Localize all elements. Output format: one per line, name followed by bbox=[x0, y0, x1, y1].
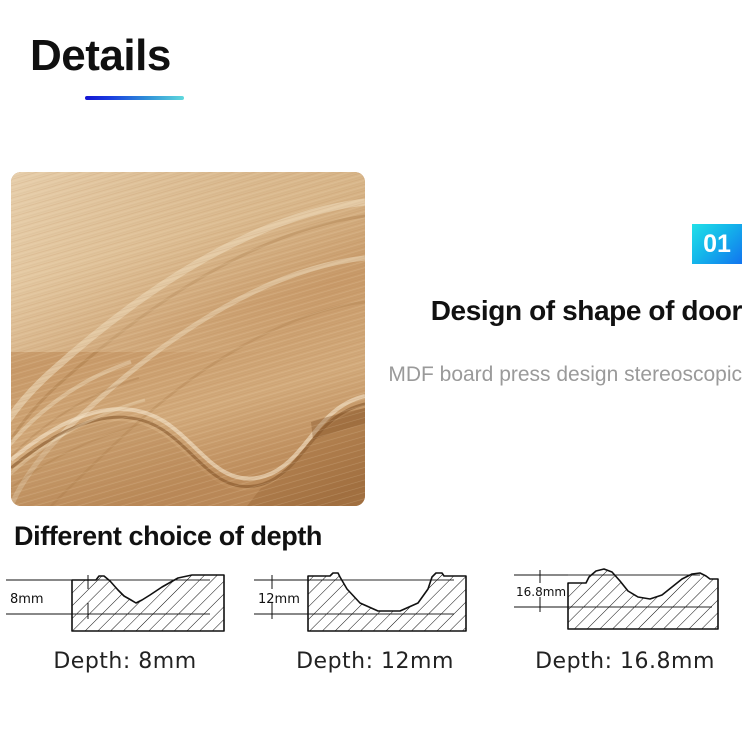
dimension-label-12mm: 12mm bbox=[258, 592, 300, 607]
depth-caption-168mm: Depth: 16.8mm bbox=[535, 649, 715, 674]
depth-caption-8mm: Depth: 8mm bbox=[53, 649, 196, 674]
depth-card-12mm: 12mm Depth: 12mm bbox=[250, 563, 500, 683]
depth-card-8mm: 8mm Depth: 8mm bbox=[0, 563, 250, 683]
door-panel-image bbox=[11, 172, 365, 506]
profile-diagram-12mm: 12mm bbox=[250, 563, 500, 643]
feature-title: Design of shape of door bbox=[431, 295, 742, 327]
depth-caption-12mm: Depth: 12mm bbox=[296, 649, 454, 674]
depth-section-heading: Different choice of depth bbox=[14, 521, 322, 552]
depth-options-row: 8mm Depth: 8mm bbox=[0, 563, 750, 683]
feature-number-badge: 01 bbox=[692, 224, 742, 264]
feature-subtitle: MDF board press design stereoscopic bbox=[322, 360, 742, 390]
depth-card-168mm: 16.8mm Depth: 16.8mm bbox=[500, 563, 750, 683]
dimension-label-168mm: 16.8mm bbox=[516, 585, 566, 599]
profile-diagram-8mm: 8mm bbox=[0, 563, 250, 643]
wood-texture-illustration bbox=[11, 172, 365, 506]
title-underline-accent bbox=[85, 96, 184, 100]
profile-diagram-168mm: 16.8mm bbox=[500, 563, 750, 643]
page-title: Details bbox=[30, 34, 171, 78]
dimension-label-8mm: 8mm bbox=[10, 592, 44, 607]
product-detail-page: Details bbox=[0, 0, 750, 750]
